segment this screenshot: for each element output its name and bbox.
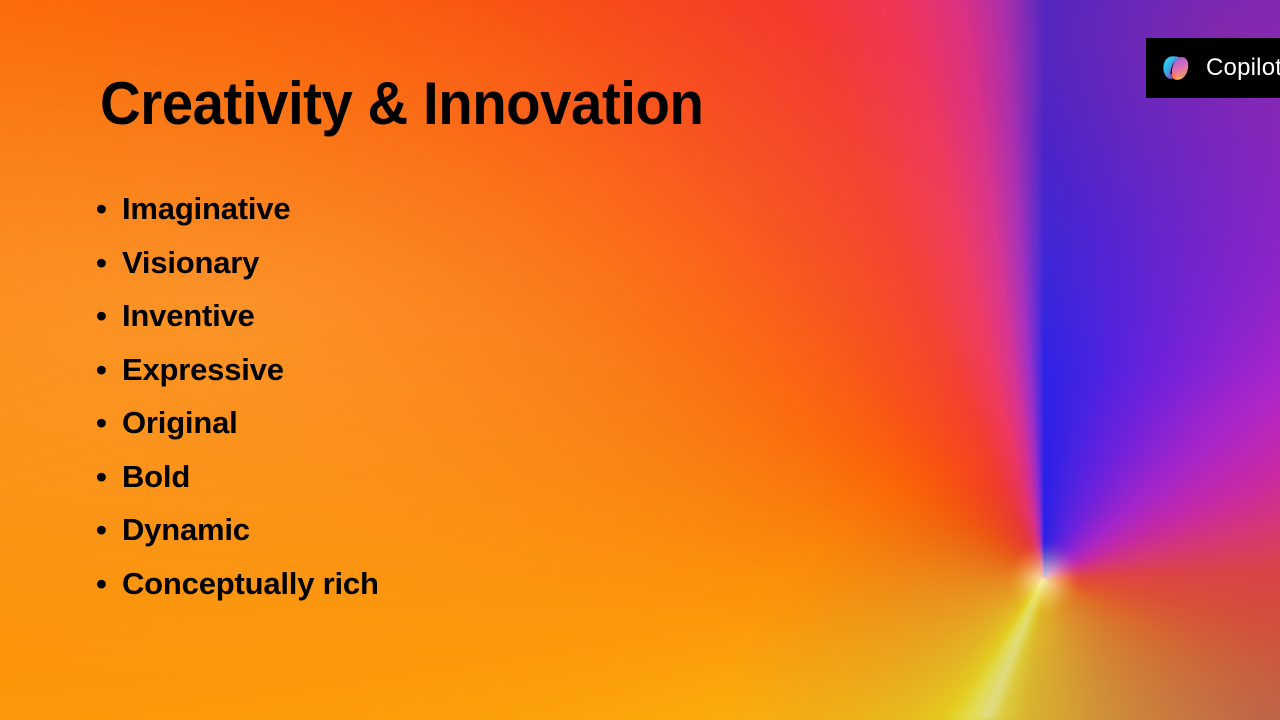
list-item: • Original bbox=[96, 407, 379, 461]
list-item-label: Dynamic bbox=[122, 514, 250, 545]
page-title: Creativity & Innovation bbox=[100, 74, 703, 134]
copilot-logo-icon bbox=[1160, 51, 1194, 85]
list-item: • Expressive bbox=[96, 354, 379, 408]
list-item-label: Imaginative bbox=[122, 193, 290, 224]
list-item-label: Conceptually rich bbox=[122, 568, 379, 599]
list-item: • Dynamic bbox=[96, 514, 379, 568]
bullet-list: • Imaginative • Visionary • Inventive • … bbox=[96, 193, 379, 621]
slide-canvas: Creativity & Innovation • Imaginative • … bbox=[0, 0, 1280, 720]
bullet-marker-icon: • bbox=[96, 247, 122, 278]
list-item-label: Visionary bbox=[122, 247, 259, 278]
list-item: • Bold bbox=[96, 461, 379, 515]
list-item-label: Bold bbox=[122, 461, 190, 492]
list-item-label: Original bbox=[122, 407, 238, 438]
copilot-label: Copilot bbox=[1206, 56, 1280, 80]
bullet-marker-icon: • bbox=[96, 568, 122, 599]
bullet-marker-icon: • bbox=[96, 461, 122, 492]
list-item: • Visionary bbox=[96, 247, 379, 301]
bullet-marker-icon: • bbox=[96, 300, 122, 331]
bullet-marker-icon: • bbox=[96, 514, 122, 545]
list-item: • Conceptually rich bbox=[96, 568, 379, 622]
bullet-marker-icon: • bbox=[96, 193, 122, 224]
list-item: • Inventive bbox=[96, 300, 379, 354]
bullet-marker-icon: • bbox=[96, 407, 122, 438]
bullet-marker-icon: • bbox=[96, 354, 122, 385]
copilot-badge[interactable]: Copilot bbox=[1146, 38, 1280, 98]
list-item-label: Inventive bbox=[122, 300, 255, 331]
slide-content: Creativity & Innovation • Imaginative • … bbox=[0, 0, 1280, 720]
list-item: • Imaginative bbox=[96, 193, 379, 247]
list-item-label: Expressive bbox=[122, 354, 284, 385]
